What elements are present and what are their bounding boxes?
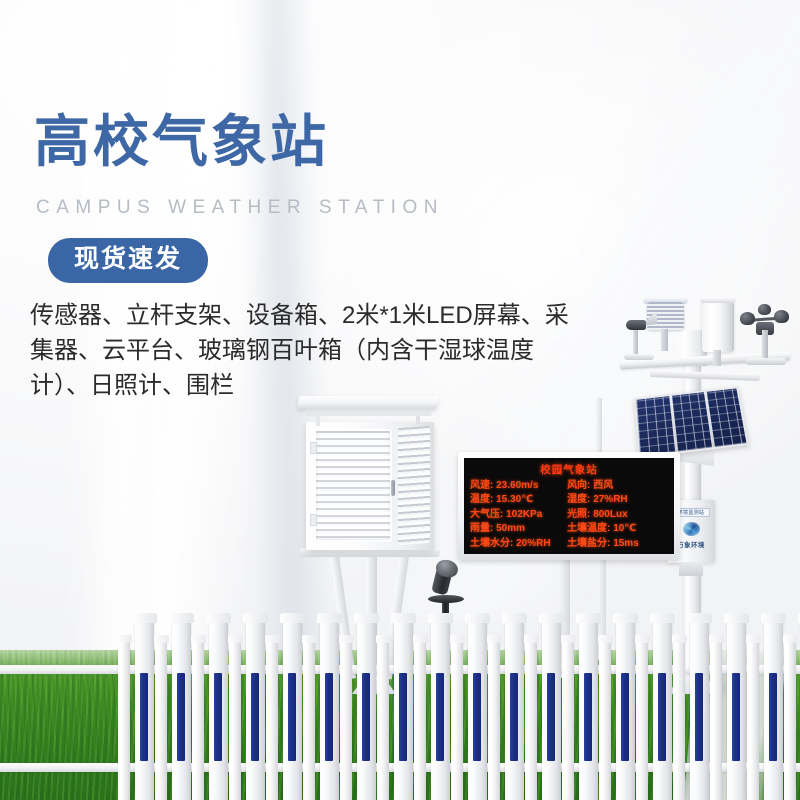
product-banner: 高校气象站 CAMPUS WEATHER STATION 现货速发 传感器、立杆…	[0, 0, 800, 800]
fence-post-stripe	[473, 673, 481, 761]
fence-post-stripe	[769, 673, 777, 761]
anemometer-cup-icon	[758, 304, 771, 315]
fence-picket	[562, 642, 574, 800]
fence-post-stripe	[140, 673, 148, 761]
fence-post-stripe	[547, 673, 555, 761]
stevenson-door-handle	[391, 480, 395, 496]
page-title: 高校气象站	[34, 114, 329, 170]
fence-picket	[636, 642, 648, 800]
fence-post-stripe	[288, 673, 296, 761]
fence-picket	[414, 642, 426, 800]
led-display-board: 校园气象站 风速: 23.60m/s 风向: 西风 温度: 15.30℃ 湿度:…	[458, 452, 680, 560]
fence-picket	[451, 642, 463, 800]
stevenson-roof-under	[305, 408, 433, 416]
brand-swirl-logo-icon	[683, 522, 700, 536]
rain-gauge	[702, 300, 734, 352]
sensor-crossarm-lower	[650, 370, 760, 381]
stevenson-roof	[297, 396, 440, 409]
led-row: 风速: 23.60m/s 风向: 西风	[470, 480, 668, 493]
cabinet-foot	[679, 562, 703, 576]
fence-picket	[229, 642, 241, 800]
led-cell-air-pressure: 大气压: 102KPa	[470, 509, 567, 522]
led-cell-illuminance: 光照: 800Lux	[567, 509, 668, 522]
fence-picket	[710, 642, 722, 800]
led-row: 土壤水分: 20%RH 土壤盐分: 15ms	[470, 538, 668, 551]
led-cell-wind-direction: 风向: 西风	[567, 480, 668, 493]
stevenson-louver-door	[314, 429, 392, 542]
fence-picket	[784, 642, 796, 800]
fence-post-stripe	[325, 673, 333, 761]
led-cell-soil-moisture: 土壤水分: 20%RH	[470, 538, 567, 551]
fence-picket	[377, 642, 389, 800]
led-screen: 校园气象站 风速: 23.60m/s 风向: 西风 温度: 15.30℃ 湿度:…	[464, 458, 674, 554]
stevenson-louver-side	[398, 426, 430, 545]
fence-post-stripe	[436, 673, 444, 761]
fence-post-stripe	[584, 673, 592, 761]
fence-post-stripe	[362, 673, 370, 761]
fence-post-stripe	[177, 673, 185, 761]
status-badge: 现货速发	[48, 238, 208, 283]
led-readout-rows: 风速: 23.60m/s 风向: 西风 温度: 15.30℃ 湿度: 27%RH…	[470, 480, 668, 550]
led-row: 雨量: 50mm 土壤温度: 10℃	[470, 523, 668, 536]
fence-picket	[747, 642, 759, 800]
solar-panel-divider	[669, 396, 678, 452]
fence-post-stripe	[214, 673, 222, 761]
anemometer-cup-icon	[774, 310, 789, 323]
page-subtitle: CAMPUS WEATHER STATION	[36, 198, 444, 217]
led-cell-rainfall: 雨量: 50mm	[470, 523, 567, 536]
fence-post-stripe	[732, 673, 740, 761]
solar-panel	[634, 386, 749, 458]
fence-picket	[488, 642, 500, 800]
wind-vane	[626, 320, 646, 330]
fence-picket	[118, 642, 130, 800]
fence-post-stripe	[658, 673, 666, 761]
anemometer-cup-icon	[740, 312, 755, 325]
led-row: 大气压: 102KPa 光照: 800Lux	[470, 509, 668, 522]
solar-panel-divider	[704, 392, 715, 447]
fence-picket	[192, 642, 204, 800]
product-description: 传感器、立杆支架、设备箱、2米*1米LED屏幕、采集器、云平台、玻璃钢百叶箱（内…	[30, 298, 590, 403]
fence-picket	[599, 642, 611, 800]
fence-post-stripe	[251, 673, 259, 761]
fence-picket	[155, 642, 167, 800]
wind-vane-mount-plate	[624, 354, 654, 360]
fence-picket	[303, 642, 315, 800]
rain-gauge-stem	[713, 350, 721, 366]
fence-picket	[340, 642, 352, 800]
fence-post-stripe	[695, 673, 703, 761]
led-cell-soil-temperature: 土壤温度: 10℃	[567, 523, 668, 536]
radiation-shield-stem	[661, 329, 668, 351]
led-title: 校园气象站	[470, 462, 668, 477]
fence-post-stripe	[621, 673, 629, 761]
led-cell-wind-speed: 风速: 23.60m/s	[470, 480, 567, 493]
stevenson-hinge-icon	[310, 514, 317, 526]
led-cell-temperature: 温度: 15.30℃	[470, 494, 567, 507]
sunshine-recorder-base-disk	[428, 595, 464, 603]
stevenson-hinge-icon	[310, 442, 317, 454]
fence-post-stripe	[510, 673, 518, 761]
led-support-arm	[596, 398, 602, 454]
anemometer-mount-plate	[746, 358, 786, 365]
fence-post-stripe	[399, 673, 407, 761]
led-cell-humidity: 湿度: 27%RH	[567, 494, 668, 507]
guard-fence	[0, 625, 800, 800]
led-cell-soil-salinity: 土壤盐分: 15ms	[567, 538, 668, 551]
led-row: 温度: 15.30℃ 湿度: 27%RH	[470, 494, 668, 507]
fence-picket	[525, 642, 537, 800]
fence-picket	[673, 642, 685, 800]
fence-picket	[266, 642, 278, 800]
stevenson-screen	[306, 422, 434, 550]
